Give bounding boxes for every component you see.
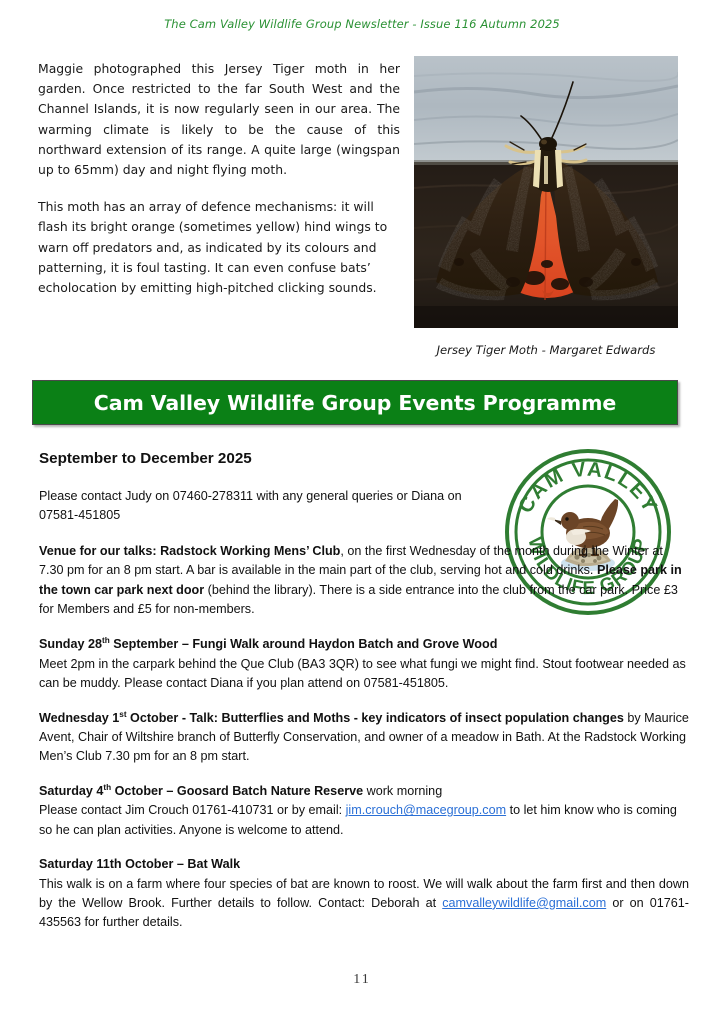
event-title-ordinal: th <box>103 783 111 792</box>
page-number: 11 <box>0 972 724 988</box>
event-title-post: October - Talk: Butterflies and Moths - … <box>127 711 624 725</box>
event-title-butterflies-talk: Wednesday 1st October - Talk: Butterflie… <box>39 711 624 725</box>
newsletter-page: The Cam Valley Wildlife Group Newsletter… <box>0 0 724 1024</box>
article-paragraph-2: This moth has an array of defence mechan… <box>38 197 400 298</box>
email-link-jim-crouch[interactable]: jim.crouch@macegroup.com <box>346 803 506 817</box>
event-title-pre: Sunday 28 <box>39 637 102 651</box>
moth-photo-graphic <box>414 56 678 328</box>
event-title-bat-walk: Saturday 11th October – Bat Walk <box>39 857 240 871</box>
event-body-pre: Please contact Jim Crouch 01761-410731 o… <box>39 803 346 817</box>
event-item-bat-walk: Saturday 11th October – Bat WalkThis wal… <box>39 855 689 933</box>
event-title-pre: Wednesday 1 <box>39 711 119 725</box>
event-title-post: September – Fungi Walk around Haydon Bat… <box>110 637 498 651</box>
event-title-pre: Saturday 4 <box>39 784 103 798</box>
event-title-tail: work morning <box>363 784 442 798</box>
running-header: The Cam Valley Wildlife Group Newsletter… <box>0 17 724 31</box>
jersey-tiger-moth-photo <box>414 56 678 328</box>
event-title-post: October – Goosard Batch Nature Reserve <box>111 784 363 798</box>
email-link-camvalleywildlife[interactable]: camvalleywildlife@gmail.com <box>442 896 606 910</box>
events-banner: Cam Valley Wildlife Group Events Program… <box>32 380 678 425</box>
event-title-ordinal: st <box>119 709 126 718</box>
article-text-column: Maggie photographed this Jersey Tiger mo… <box>38 59 400 298</box>
event-item-butterflies-talk: Wednesday 1st October - Talk: Butterflie… <box>39 709 689 767</box>
event-body-fungi-walk: Meet 2pm in the carpark behind the Que C… <box>39 657 686 690</box>
event-title-ordinal: th <box>102 636 110 645</box>
event-title-goosard-batch: Saturday 4th October – Goosard Batch Nat… <box>39 784 363 798</box>
event-title-fungi-walk: Sunday 28th September – Fungi Walk aroun… <box>39 637 497 651</box>
events-venue-paragraph: Venue for our talks: Radstock Working Me… <box>39 542 689 620</box>
events-programme-section: September to December 2025 Please contac… <box>39 449 689 949</box>
events-season-heading: September to December 2025 <box>39 449 689 469</box>
events-banner-title: Cam Valley Wildlife Group Events Program… <box>94 391 616 415</box>
event-item-fungi-walk: Sunday 28th September – Fungi Walk aroun… <box>39 635 689 693</box>
venue-lead-bold: Venue for our talks: Radstock Working Me… <box>39 544 340 558</box>
event-item-goosard-batch: Saturday 4th October – Goosard Batch Nat… <box>39 782 689 840</box>
photo-caption: Jersey Tiger Moth - Margaret Edwards <box>414 343 678 357</box>
events-contact-intro: Please contact Judy on 07460-278311 with… <box>39 487 494 526</box>
article-paragraph-1: Maggie photographed this Jersey Tiger mo… <box>38 59 400 180</box>
